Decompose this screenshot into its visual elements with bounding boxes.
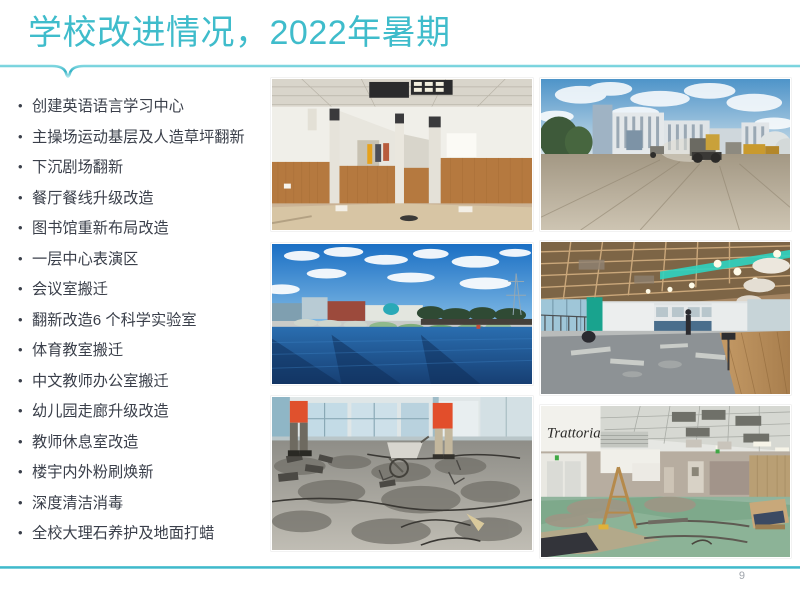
- list-item: • 中文教师办公室搬迁: [18, 367, 268, 398]
- footer-divider: [0, 566, 800, 569]
- photo-floor-demolition: [271, 396, 533, 551]
- photo-cafeteria-trattoria: Trattoria: [540, 405, 791, 558]
- list-item-label: 体育教室搬迁: [32, 336, 268, 367]
- bullet-marker-icon: •: [18, 122, 32, 153]
- list-item-label: 中文教师办公室搬迁: [32, 367, 268, 398]
- trattoria-sign-text: Trattoria: [547, 426, 601, 442]
- list-item: • 体育教室搬迁: [18, 336, 268, 367]
- list-item-label: 教师休息室改造: [32, 428, 268, 459]
- photo-outdoor-construction: [540, 78, 791, 231]
- list-item: • 楼宇内外粉刷焕新: [18, 458, 268, 489]
- photo-corridor-renovation: [271, 78, 533, 231]
- list-item: • 一层中心表演区: [18, 245, 268, 276]
- bullet-marker-icon: •: [18, 244, 32, 275]
- list-item: • 教师休息室改造: [18, 428, 268, 459]
- photo-central-performance-area: [540, 241, 791, 395]
- list-item: • 会议室搬迁: [18, 275, 268, 306]
- bullet-marker-icon: •: [18, 305, 32, 336]
- list-item-label: 翻新改造6 个科学实验室: [32, 306, 268, 337]
- list-item-label: 餐厅餐线升级改造: [32, 184, 268, 215]
- bullet-marker-icon: •: [18, 152, 32, 183]
- bullet-marker-icon: •: [18, 183, 32, 214]
- list-item: • 创建英语语言学习中心: [18, 92, 268, 123]
- list-item-label: 下沉剧场翻新: [32, 153, 268, 184]
- list-item-label: 幼儿园走廊升级改造: [32, 397, 268, 428]
- slide: 学校改进情况，2022年暑期 • 创建英语语言学习中心 • 主操场运动基层及人造…: [0, 0, 800, 600]
- list-item-label: 楼宇内外粉刷焕新: [32, 458, 268, 489]
- list-item: • 翻新改造6 个科学实验室: [18, 306, 268, 337]
- list-item-label: 图书馆重新布局改造: [32, 214, 268, 245]
- bullet-marker-icon: •: [18, 274, 32, 305]
- bullet-marker-icon: •: [18, 366, 32, 397]
- bullet-marker-icon: •: [18, 457, 32, 488]
- list-item: • 图书馆重新布局改造: [18, 214, 268, 245]
- list-item: • 下沉剧场翻新: [18, 153, 268, 184]
- bullet-marker-icon: •: [18, 335, 32, 366]
- list-item: • 餐厅餐线升级改造: [18, 184, 268, 215]
- list-item: • 深度清洁消毒: [18, 489, 268, 520]
- improvement-list: • 创建英语语言学习中心 • 主操场运动基层及人造草坪翻新 • 下沉剧场翻新 •…: [18, 92, 268, 550]
- bullet-marker-icon: •: [18, 488, 32, 519]
- list-item-label: 主操场运动基层及人造草坪翻新: [32, 123, 268, 154]
- list-item: • 全校大理石养护及地面打蜡: [18, 519, 268, 550]
- photo-grid: Trattoria: [271, 78, 791, 558]
- bullet-marker-icon: •: [18, 518, 32, 549]
- page-title: 学校改进情况，2022年暑期: [28, 8, 451, 58]
- list-item-label: 一层中心表演区: [32, 245, 268, 276]
- page-number: 9: [739, 569, 745, 583]
- photo-sports-field-turf: [271, 243, 533, 385]
- bullet-marker-icon: •: [18, 427, 32, 458]
- list-item: • 幼儿园走廊升级改造: [18, 397, 268, 428]
- bullet-marker-icon: •: [18, 396, 32, 427]
- list-item-label: 深度清洁消毒: [32, 489, 268, 520]
- list-item-label: 全校大理石养护及地面打蜡: [32, 519, 268, 550]
- list-item-label: 会议室搬迁: [32, 275, 268, 306]
- bullet-marker-icon: •: [18, 91, 32, 122]
- list-item-label: 创建英语语言学习中心: [32, 92, 268, 123]
- list-item: • 主操场运动基层及人造草坪翻新: [18, 123, 268, 154]
- bullet-marker-icon: •: [18, 213, 32, 244]
